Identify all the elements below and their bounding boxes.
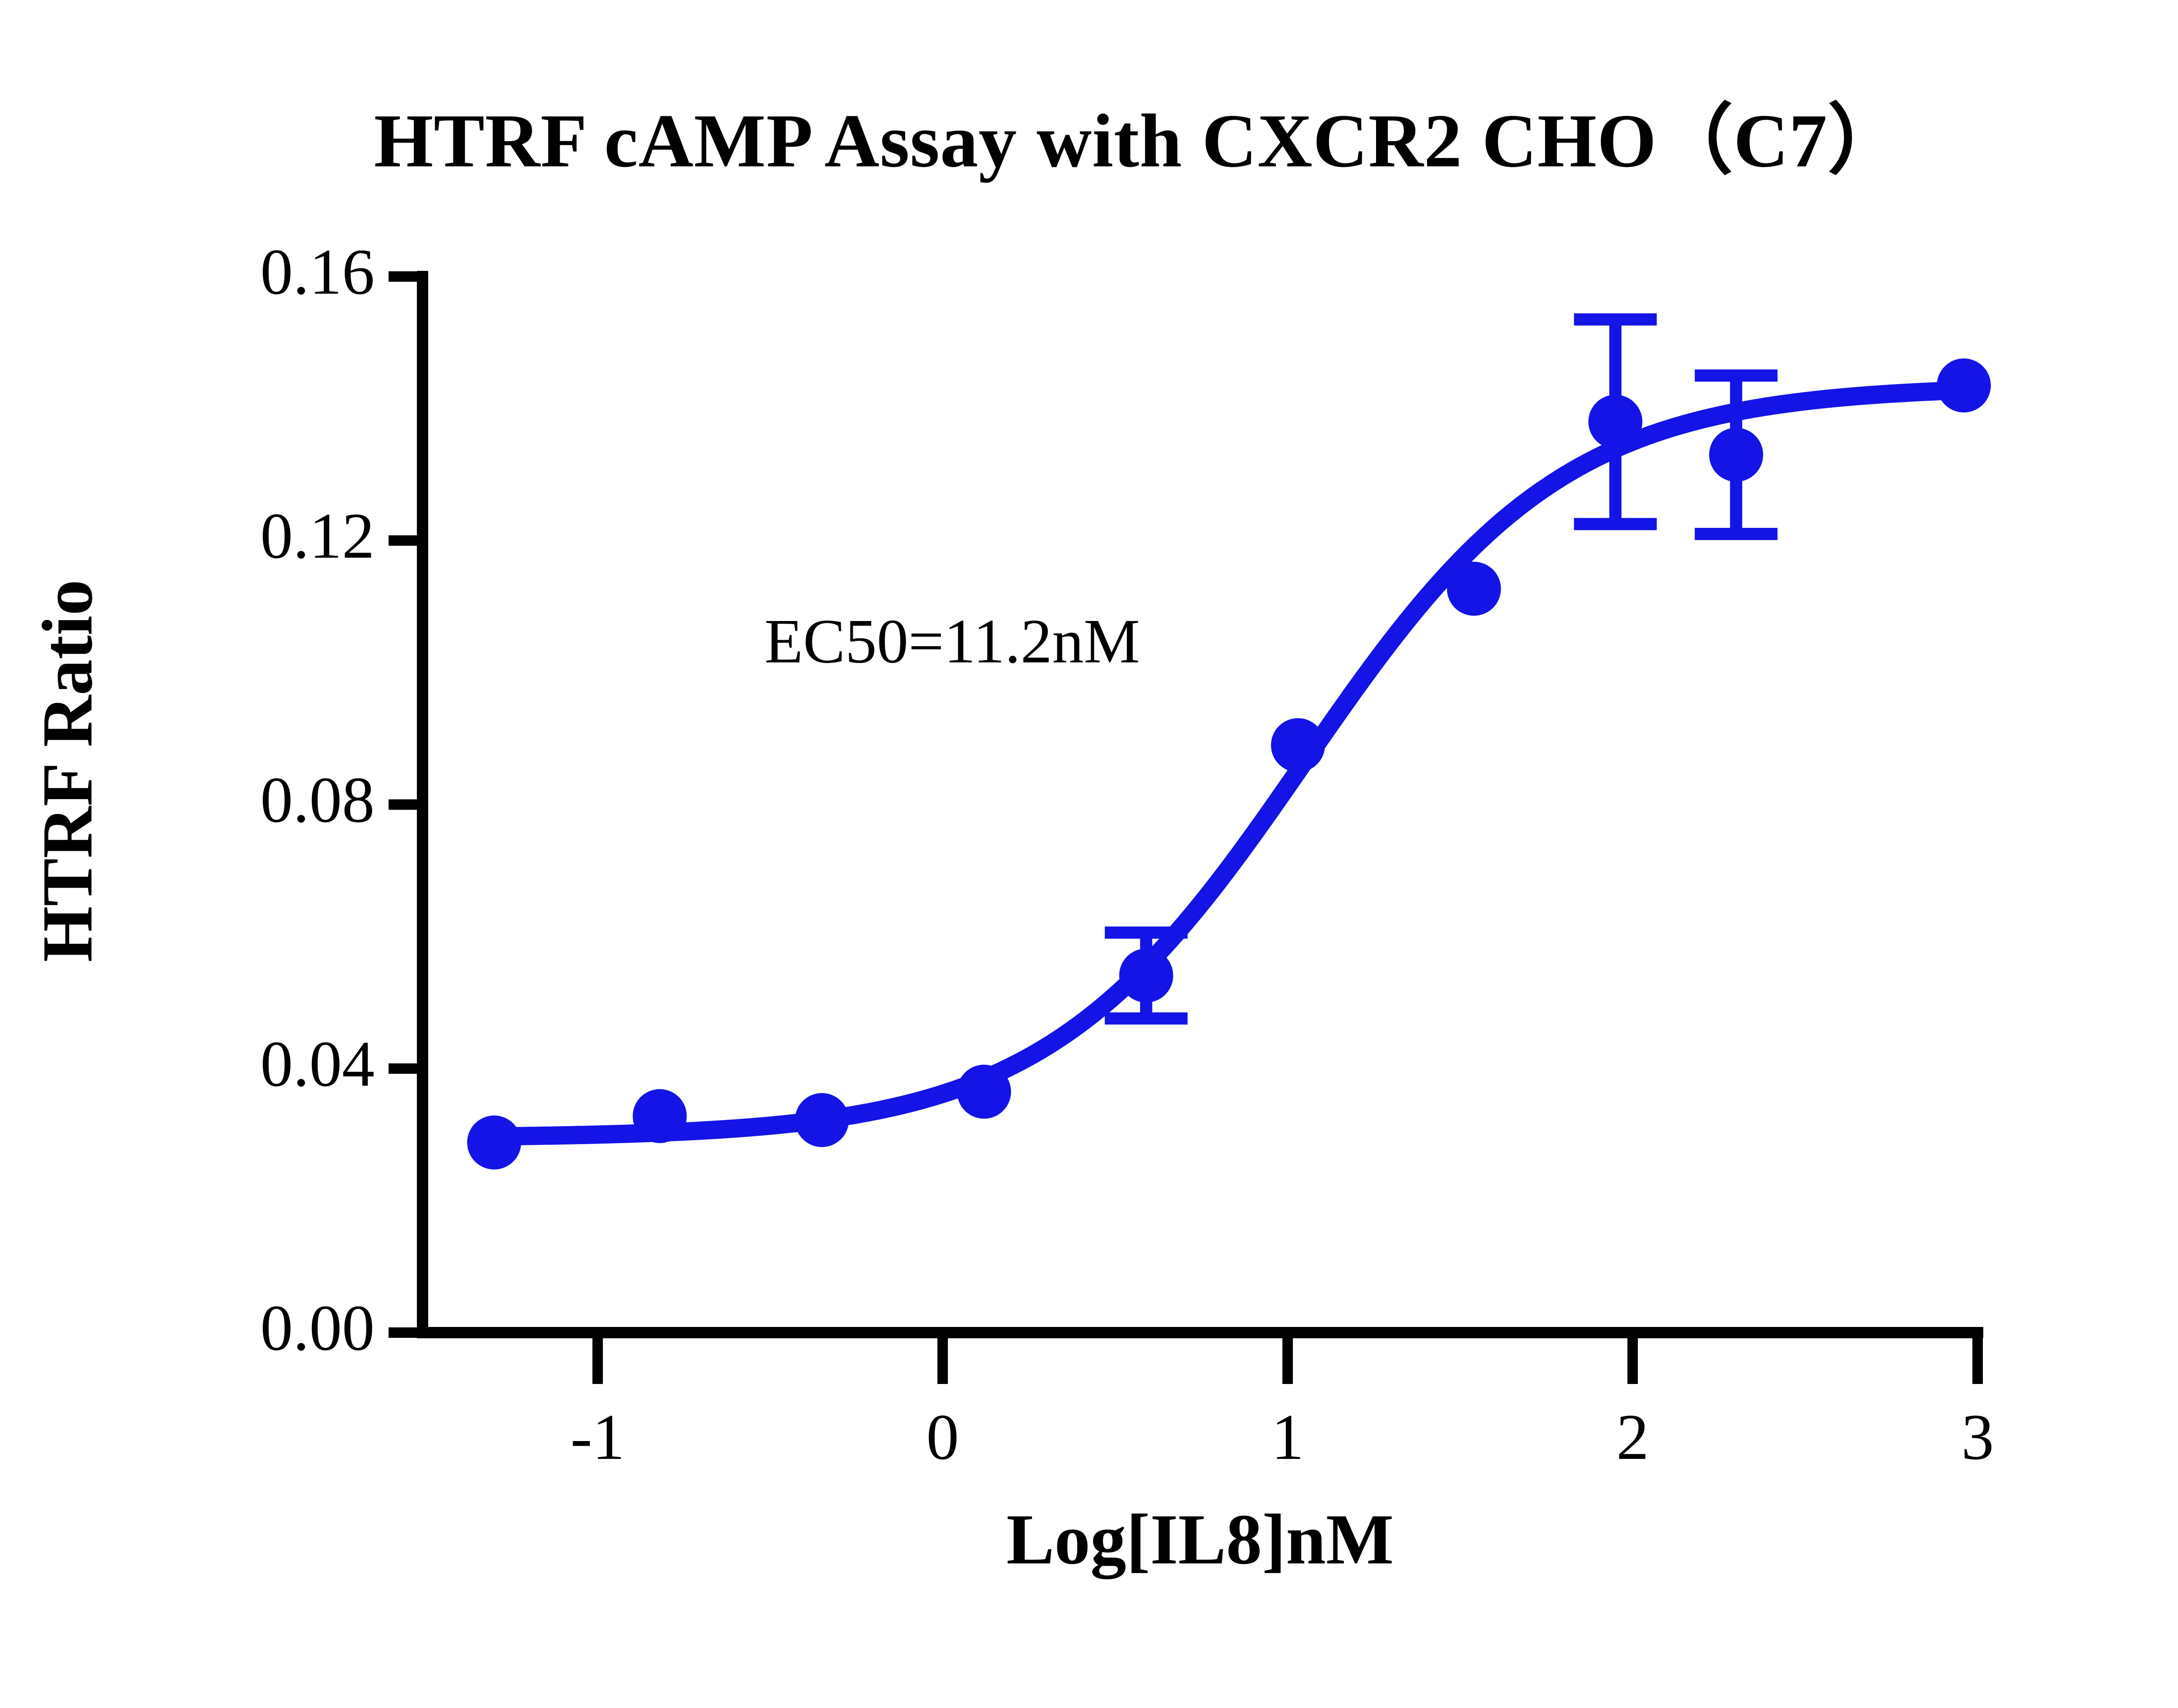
data-point [1709,428,1763,482]
x-tick-label: 0 [927,1401,959,1473]
data-point [1119,949,1173,1003]
data-points [467,358,1991,1169]
y-tick-label: 0.12 [260,500,375,572]
y-tick-label: 0.00 [260,1292,375,1364]
data-point [795,1093,849,1147]
data-point [633,1089,687,1143]
data-point [957,1065,1011,1119]
chart-figure: HTRF cAMP Assay with CXCR2 CHO（C7） 0.000… [0,0,2178,1708]
x-tick-label: 3 [1962,1401,1994,1473]
y-tick-label: 0.08 [260,764,375,836]
data-point [1447,562,1501,616]
sigmoid-fit-line [494,390,1964,1137]
y-tick-label: 0.16 [260,236,375,308]
data-point [1937,358,1991,412]
x-tick-label: 2 [1617,1401,1649,1473]
data-point [467,1116,521,1170]
y-axis-title: HTRF Ratio [26,580,109,962]
plot-area: 0.000.040.080.120.16-10123 [0,0,2178,1708]
y-tick-label: 0.04 [260,1028,375,1100]
data-point [1271,718,1325,772]
x-axis-title: Log[IL8]nM [0,1498,2178,1581]
data-point [1588,395,1642,449]
x-tick-label: -1 [571,1401,625,1473]
fit-curve [494,390,1964,1137]
ec50-annotation: EC50=11.2nM [764,605,1140,678]
x-tick-label: 1 [1272,1401,1304,1473]
